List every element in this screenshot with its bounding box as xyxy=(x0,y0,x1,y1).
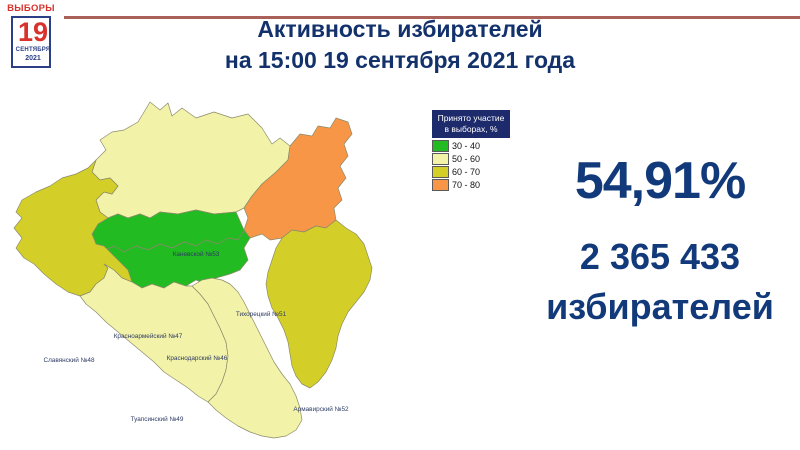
map-label-krasnodarsky: Краснодарский №46 xyxy=(167,354,228,362)
voters-count: 2 365 433 xyxy=(520,236,800,278)
legend-item: 30 - 40 xyxy=(432,139,510,152)
legend-swatch-icon xyxy=(432,140,449,152)
logo-month: СЕНТЯБРЯ xyxy=(13,47,53,53)
legend-item: 50 - 60 xyxy=(432,152,510,165)
legend-item-label: 30 - 40 xyxy=(452,141,480,151)
legend-swatch-icon xyxy=(432,153,449,165)
legend-items: 30 - 40 50 - 60 60 - 70 70 - 80 xyxy=(432,139,510,191)
map-region-armavirsky[interactable] xyxy=(266,220,372,388)
krasnodar-krai-map: Каневской №53 Тихорецкий №51 Красноармей… xyxy=(0,88,420,450)
legend-swatch-icon xyxy=(432,166,449,178)
legend-swatch-icon xyxy=(432,179,449,191)
map-label-tuapsinsky: Туапсинский №49 xyxy=(131,415,184,423)
map-label-kanevskoy: Каневской №53 xyxy=(173,250,220,258)
legend-item-label: 60 - 70 xyxy=(452,167,480,177)
logo-day: 19 xyxy=(13,17,53,47)
legend-item: 70 - 80 xyxy=(432,178,510,191)
page-title-line1: Активность избирателей xyxy=(257,16,542,42)
page-title-line2: на 15:00 19 сентября 2021 года xyxy=(180,45,620,76)
map-legend: Принято участие в выборах, % 30 - 40 50 … xyxy=(432,110,510,191)
slide-root: ВЫБОРЫ 19 СЕНТЯБРЯ 2021 Активность избир… xyxy=(0,0,800,450)
legend-title: Принято участие в выборах, % xyxy=(432,110,510,138)
logo-year: 2021 xyxy=(13,55,53,62)
legend-item-label: 70 - 80 xyxy=(452,180,480,190)
page-title: Активность избирателей на 15:00 19 сентя… xyxy=(180,14,620,76)
logo-frame: 19 СЕНТЯБРЯ 2021 xyxy=(11,16,51,68)
map-label-slavyansky: Славянский №48 xyxy=(43,356,95,364)
voters-count-unit: избирателей xyxy=(520,286,800,328)
map-label-krasnoarmeysky: Красноармейский №47 xyxy=(114,332,183,340)
election-logo: ВЫБОРЫ 19 СЕНТЯБРЯ 2021 xyxy=(0,0,62,72)
map-label-tikhoretsky: Тихорецкий №51 xyxy=(236,310,287,318)
logo-word-vybory: ВЫБОРЫ xyxy=(0,3,62,14)
map-label-armavirsky: Армавирский №52 xyxy=(293,405,349,413)
turnout-percent: 54,91% xyxy=(520,152,800,210)
legend-item-label: 50 - 60 xyxy=(452,154,480,164)
legend-item: 60 - 70 xyxy=(432,165,510,178)
turnout-stats: 54,91% 2 365 433 избирателей xyxy=(520,152,800,328)
